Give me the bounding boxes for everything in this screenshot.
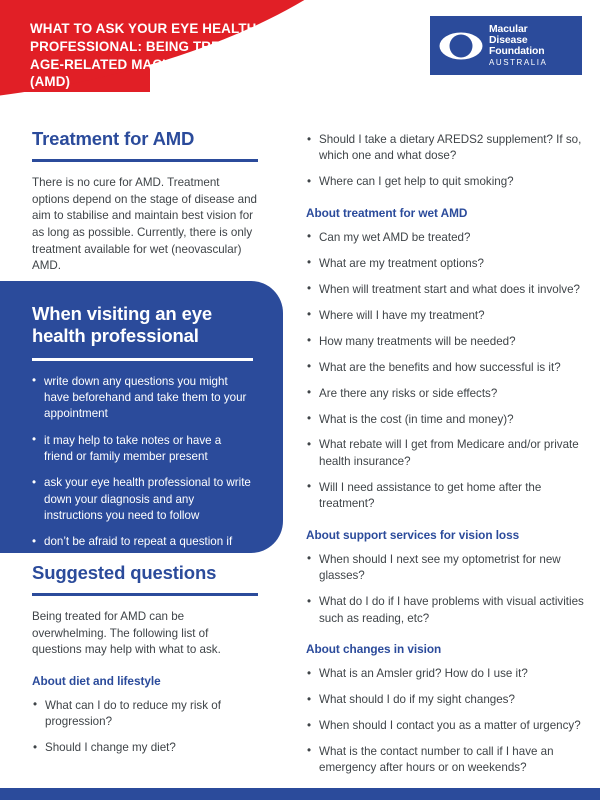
question-list-support: When should I next see my optometrist fo… — [306, 552, 586, 627]
section-heading-when-visiting: When visiting an eye health professional — [32, 303, 253, 347]
right-column: Should I take a dietary AREDS2 supplemen… — [306, 132, 586, 786]
question-list-changes: What is an Amsler grid? How do I use it?… — [306, 666, 586, 777]
list-item: When will treatment start and what does … — [306, 282, 586, 298]
document-page: WHAT TO ASK YOUR EYE HEALTH PROFESSIONAL… — [0, 0, 600, 800]
page-title: WHAT TO ASK YOUR EYE HEALTH PROFESSIONAL… — [30, 20, 330, 91]
suggested-body-text: Being treated for AMD can be overwhelmin… — [32, 609, 258, 659]
list-item: How many treatments will be needed? — [306, 334, 586, 350]
section-suggested-questions: Suggested questions Being treated for AM… — [0, 562, 290, 766]
list-item: What do I do if I have problems with vis… — [306, 594, 586, 627]
list-item: What can I do to reduce my risk of progr… — [32, 698, 258, 731]
logo: Macular Disease Foundation AUSTRALIA — [430, 16, 582, 75]
list-item: Can my wet AMD be treated? — [306, 230, 586, 246]
visiting-bullet-list: write down any questions you might have … — [32, 374, 253, 567]
heading-divider — [32, 358, 253, 361]
section-heading-treatment: Treatment for AMD — [32, 128, 258, 150]
list-item: Will I need assistance to get home after… — [306, 480, 586, 513]
list-item: What should I do if my sight changes? — [306, 692, 586, 708]
subheading-about-support-services: About support services for vision loss — [306, 528, 586, 542]
list-item: When should I contact you as a matter of… — [306, 718, 586, 734]
list-item: Where will I have my treatment? — [306, 308, 586, 324]
list-item: What is an Amsler grid? How do I use it? — [306, 666, 586, 682]
question-list-treatment: Can my wet AMD be treated? What are my t… — [306, 230, 586, 513]
question-list-diet-continued: Should I take a dietary AREDS2 supplemen… — [306, 132, 586, 191]
list-item: Should I change my diet? — [32, 740, 258, 756]
list-item: What rebate will I get from Medicare and… — [306, 437, 586, 470]
list-item: Are there any risks or side effects? — [306, 386, 586, 402]
logo-line-3: Foundation — [489, 46, 547, 57]
logo-country: AUSTRALIA — [489, 59, 547, 67]
list-item: What is the cost (in time and money)? — [306, 412, 586, 428]
section-heading-suggested: Suggested questions — [32, 562, 258, 584]
logo-text: Macular Disease Foundation AUSTRALIA — [489, 24, 547, 67]
list-item: Where can I get help to quit smoking? — [306, 174, 586, 190]
list-item: write down any questions you might have … — [32, 374, 253, 423]
eye-icon — [439, 27, 483, 65]
subheading-about-changes-in-vision: About changes in vision — [306, 642, 586, 656]
logo-line-1: Macular — [489, 24, 547, 35]
list-item: Should I take a dietary AREDS2 supplemen… — [306, 132, 586, 165]
list-item: ask your eye health professional to writ… — [32, 475, 253, 524]
section-treatment-for-amd: Treatment for AMD There is no cure for A… — [0, 128, 290, 275]
footer-bar — [0, 788, 600, 800]
list-item: What are my treatment options? — [306, 256, 586, 272]
list-item: it may help to take notes or have a frie… — [32, 433, 253, 466]
callout-when-visiting: When visiting an eye health professional… — [0, 281, 283, 553]
subheading-about-diet-and-lifestyle: About diet and lifestyle — [32, 674, 258, 688]
heading-divider — [32, 159, 258, 162]
subheading-about-treatment-for-wet-amd: About treatment for wet AMD — [306, 206, 586, 220]
list-item: When should I next see my optometrist fo… — [306, 552, 586, 585]
list-item: What are the benefits and how successful… — [306, 360, 586, 376]
suggested-inner: Suggested questions Being treated for AM… — [0, 562, 290, 757]
logo-line-2: Disease — [489, 35, 547, 46]
question-list-diet: What can I do to reduce my risk of progr… — [32, 698, 258, 757]
left-column: Treatment for AMD There is no cure for A… — [0, 128, 290, 275]
list-item: What is the contact number to call if I … — [306, 744, 586, 777]
heading-divider — [32, 593, 258, 596]
treatment-body-text: There is no cure for AMD. Treatment opti… — [32, 175, 258, 275]
